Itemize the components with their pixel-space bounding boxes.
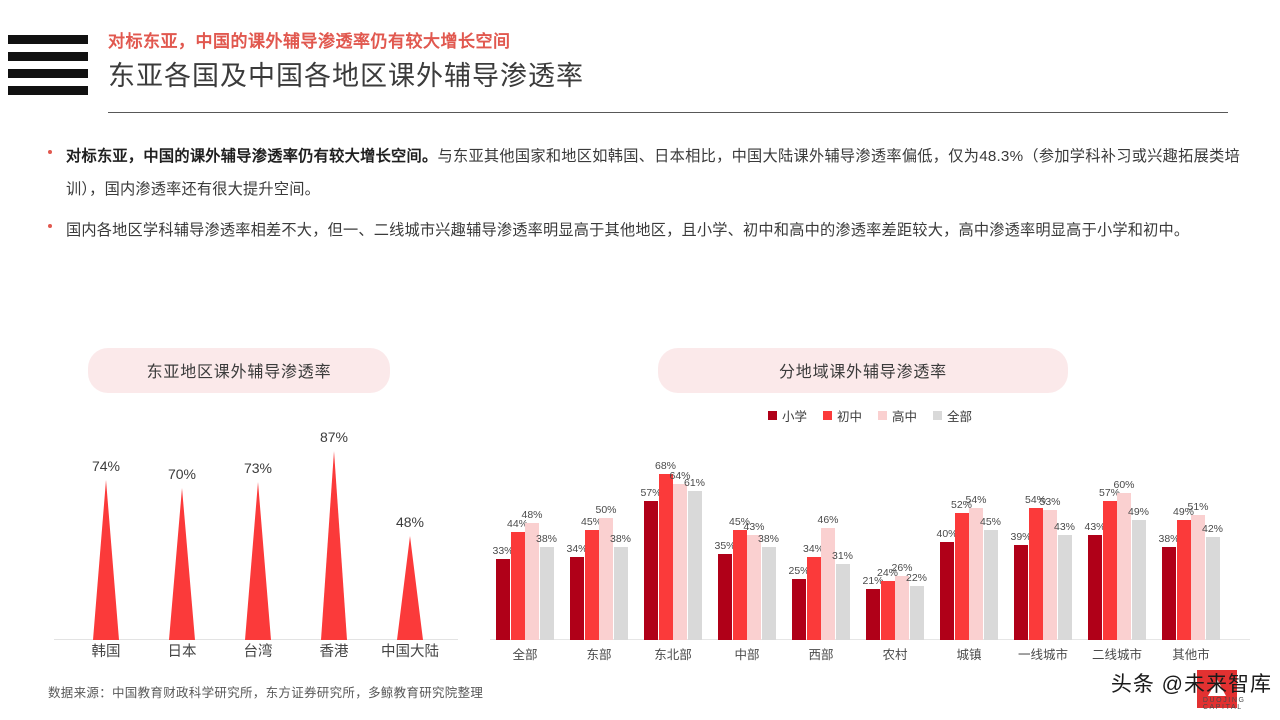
bar-rect	[614, 547, 628, 640]
legend-item[interactable]: 小学	[768, 406, 807, 425]
bar-rect	[747, 535, 761, 640]
bar-rect	[496, 559, 510, 640]
bar-rect	[1029, 508, 1043, 640]
bar-value-label: 38%	[530, 533, 564, 545]
cone-bar	[245, 482, 271, 640]
bar-x-label: 中部	[707, 644, 787, 663]
bar-rect	[910, 586, 924, 640]
bar-value-label: 38%	[604, 533, 638, 545]
slide: 对标东亚，中国的课外辅导渗透率仍有较大增长空间 东亚各国及中国各地区课外辅导渗透…	[0, 0, 1280, 720]
source-note: 数据来源：中国教育财政科学研究所，东方证券研究所，多鲸教育研究院整理	[48, 682, 483, 701]
bar-x-label: 农村	[855, 644, 935, 663]
bar-rect	[540, 547, 554, 640]
bar-rect	[673, 484, 687, 640]
bar-x-label: 其他市	[1151, 644, 1231, 663]
bar-rect	[762, 547, 776, 640]
bar-x-label: 城镇	[929, 644, 1009, 663]
legend-item[interactable]: 高中	[878, 406, 917, 425]
legend-label: 初中	[837, 406, 862, 425]
bar-value-label: 49%	[1122, 506, 1156, 518]
bar-rect	[866, 589, 880, 640]
bar-rect	[1162, 547, 1176, 640]
legend-item[interactable]: 全部	[933, 406, 972, 425]
bar-value-label: 46%	[811, 514, 845, 526]
cone-x-label: 中国大陆	[369, 640, 451, 661]
legend-label: 全部	[947, 406, 972, 425]
bar-rect	[1103, 501, 1117, 640]
chart-legend: 小学初中高中全部	[490, 406, 1250, 425]
watermark-subtext: DUOJING CAPITAL	[1203, 697, 1272, 711]
bar-x-label: 二线城市	[1077, 644, 1157, 663]
bar-value-label: 42%	[1196, 523, 1230, 535]
bar-rect	[955, 513, 969, 640]
bar-chart-plot: 33%44%48%38%34%45%50%38%57%68%64%61%35%4…	[490, 440, 1250, 640]
bullet-dot-icon	[48, 150, 52, 154]
bar-group: 34%45%50%38%	[570, 440, 644, 640]
bar-rect	[585, 530, 599, 640]
bar-group: 25%34%46%31%	[792, 440, 866, 640]
bar-value-label: 31%	[826, 550, 860, 562]
cone-value-label: 74%	[70, 458, 142, 474]
cone-value-label: 73%	[222, 460, 294, 476]
cone-x-label: 韩国	[65, 640, 147, 661]
bar-rect	[821, 528, 835, 640]
bar-value-label: 60%	[1107, 479, 1141, 491]
bar-group: 40%52%54%45%	[940, 440, 1014, 640]
bar-value-label: 22%	[900, 572, 934, 584]
bar-rect	[881, 581, 895, 640]
bar-group: 35%45%43%38%	[718, 440, 792, 640]
cone-bar	[397, 536, 423, 640]
bar-x-label: 一线城市	[1003, 644, 1083, 663]
cone-bar	[93, 480, 119, 640]
bar-group: 43%57%60%49%	[1088, 440, 1162, 640]
bar-group: 33%44%48%38%	[496, 440, 570, 640]
bar-value-label: 51%	[1181, 501, 1215, 513]
bar-value-label: 54%	[959, 494, 993, 506]
header-divider	[108, 112, 1228, 113]
bar-rect	[895, 576, 909, 640]
legend-label: 小学	[782, 406, 807, 425]
cone-chart-x-labels: 韩国日本台湾香港中国大陆	[48, 640, 468, 666]
bar-rect	[659, 474, 673, 640]
chart-panel-region: 分地域课外辅导渗透率 小学初中高中全部 33%44%48%38%34%45%50…	[490, 348, 1250, 678]
chart-panel-east-asia: 东亚地区课外辅导渗透率 74%70%73%87%48% 韩国日本台湾香港中国大陆	[48, 348, 468, 678]
page-title: 东亚各国及中国各地区课外辅导渗透率	[108, 56, 1228, 96]
bar-value-label: 53%	[1033, 496, 1067, 508]
bar-value-label: 43%	[1048, 521, 1082, 533]
bar-rect	[836, 564, 850, 640]
legend-swatch-icon	[768, 411, 777, 420]
list-item: 国内各地区学科辅导渗透率相差不大，但一、二线城市兴趣辅导渗透率明显高于其他地区，…	[44, 214, 1240, 247]
bar-value-label: 45%	[974, 516, 1008, 528]
bullet-dot-icon	[48, 224, 52, 228]
bar-x-label: 西部	[781, 644, 861, 663]
cone-bar	[321, 451, 347, 640]
bar-rect	[807, 557, 821, 640]
header-kicker: 对标东亚，中国的课外辅导渗透率仍有较大增长空间	[108, 30, 1228, 54]
bar-group: 21%24%26%22%	[866, 440, 940, 640]
list-item: 对标东亚，中国的课外辅导渗透率仍有较大增长空间。与东亚其他国家和地区如韩国、日本…	[44, 140, 1240, 206]
cone-x-label: 台湾	[217, 640, 299, 661]
bar-rect	[792, 579, 806, 640]
bullet-list: 对标东亚，中国的课外辅导渗透率仍有较大增长空间。与东亚其他国家和地区如韩国、日本…	[44, 140, 1240, 255]
bar-value-label: 50%	[589, 504, 623, 516]
bullet-text: 国内各地区学科辅导渗透率相差不大，但一、二线城市兴趣辅导渗透率明显高于其他地区，…	[66, 222, 1189, 239]
cone-x-label: 香港	[293, 640, 375, 661]
bar-rect	[718, 554, 732, 640]
bar-value-label: 48%	[515, 509, 549, 521]
bar-rect	[1058, 535, 1072, 640]
bar-x-label: 东北部	[633, 644, 713, 663]
legend-swatch-icon	[933, 411, 942, 420]
bar-rect	[1132, 520, 1146, 640]
bar-value-label: 43%	[737, 521, 771, 533]
bar-x-label: 东部	[559, 644, 639, 663]
cone-chart-plot: 74%70%73%87%48%	[48, 410, 468, 640]
bar-rect	[1014, 545, 1028, 640]
bar-group: 57%68%64%61%	[644, 440, 718, 640]
bar-x-label: 全部	[485, 644, 565, 663]
header-text: 对标东亚，中国的课外辅导渗透率仍有较大增长空间 东亚各国及中国各地区课外辅导渗透…	[108, 30, 1228, 96]
cone-value-label: 70%	[146, 466, 218, 482]
bar-rect	[1206, 537, 1220, 640]
legend-swatch-icon	[823, 411, 832, 420]
chart-title-region: 分地域课外辅导渗透率	[658, 348, 1068, 393]
watermark: 头条 @未来智库 DUOJING CAPITAL	[1111, 668, 1272, 698]
bar-rect	[511, 532, 525, 640]
cone-value-label: 87%	[298, 429, 370, 445]
bar-rect	[733, 530, 747, 640]
bar-value-label: 38%	[752, 533, 786, 545]
bullet-bold-text: 对标东亚，中国的课外辅导渗透率仍有较大增长空间。	[66, 148, 437, 165]
bar-rect	[570, 557, 584, 640]
legend-label: 高中	[892, 406, 917, 425]
cone-value-label: 48%	[374, 514, 446, 530]
bar-value-label: 61%	[678, 477, 712, 489]
watermark-text: 头条 @未来智库	[1111, 668, 1272, 698]
chart-title-east-asia: 东亚地区课外辅导渗透率	[88, 348, 390, 393]
bar-rect	[1177, 520, 1191, 640]
cone-x-label: 日本	[141, 640, 223, 661]
bar-rect	[688, 491, 702, 640]
bar-rect	[984, 530, 998, 640]
logo-bars-icon	[8, 35, 88, 95]
bar-rect	[1088, 535, 1102, 640]
legend-swatch-icon	[878, 411, 887, 420]
legend-item[interactable]: 初中	[823, 406, 862, 425]
cone-bar	[169, 488, 195, 640]
bar-group: 38%49%51%42%	[1162, 440, 1236, 640]
bar-rect	[940, 542, 954, 640]
bar-rect	[644, 501, 658, 640]
bar-group: 39%54%53%43%	[1014, 440, 1088, 640]
bar-chart-x-labels: 全部东部东北部中部西部农村城镇一线城市二线城市其他市	[490, 644, 1250, 668]
